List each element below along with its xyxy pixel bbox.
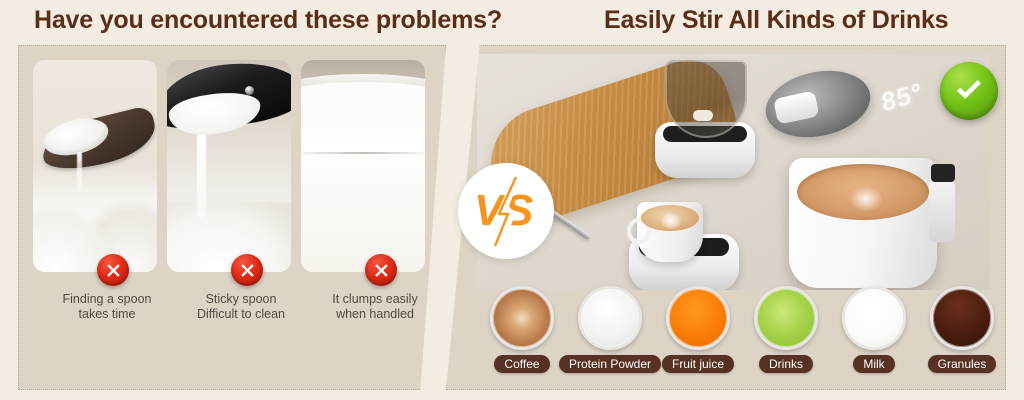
drink-label-coffee: Coffee [494, 355, 549, 373]
drink-item-milk[interactable]: Milk [830, 286, 918, 373]
check-mark-icon [940, 62, 998, 120]
left-panel-title: Have you encountered these problems? [34, 6, 502, 35]
drink-swatch-coffee [490, 286, 554, 350]
problems-panel: Finding a spoontakes time Sticky spoonDi… [18, 45, 446, 390]
problem-photo-3 [301, 60, 425, 272]
x-mark-icon [231, 254, 263, 286]
problem-photo-1 [33, 60, 157, 272]
problem-photo-row [33, 60, 425, 272]
drink-item-coffee[interactable]: Coffee [478, 286, 566, 373]
drink-swatch-protein-powder [578, 286, 642, 350]
promo-banner: Have you encountered these problems? Eas… [0, 0, 1024, 400]
drink-types-row: Coffee Protein Powder Fruit juice Drinks… [478, 286, 1006, 373]
drink-swatch-granules [930, 286, 994, 350]
latte-cup-icon [637, 202, 703, 262]
problem-photo-2 [167, 60, 291, 272]
drink-label-drinks: Drinks [759, 355, 813, 373]
drink-item-protein-powder[interactable]: Protein Powder [566, 286, 654, 373]
x-mark-icon [365, 254, 397, 286]
drink-item-fruit-juice[interactable]: Fruit juice [654, 286, 742, 373]
drink-label-granules: Granules [928, 355, 997, 373]
drink-swatch-fruit-juice [666, 286, 730, 350]
self-stirring-mug-icon [789, 158, 937, 288]
problem-caption-3: It clumps easilywhen handled [295, 292, 455, 322]
vs-lightning-icon: V S [458, 163, 554, 259]
drink-item-granules[interactable]: Granules [918, 286, 1006, 373]
drink-swatch-drinks [754, 286, 818, 350]
drink-label-protein-powder: Protein Powder [559, 355, 661, 373]
vs-badge: V S [458, 163, 554, 259]
x-mark-icon [97, 254, 129, 286]
drink-label-fruit-juice: Fruit juice [662, 355, 734, 373]
right-panel-title: Easily Stir All Kinds of Drinks [604, 6, 948, 35]
drink-swatch-milk [842, 286, 906, 350]
drink-item-drinks[interactable]: Drinks [742, 286, 830, 373]
drink-label-milk: Milk [853, 355, 894, 373]
